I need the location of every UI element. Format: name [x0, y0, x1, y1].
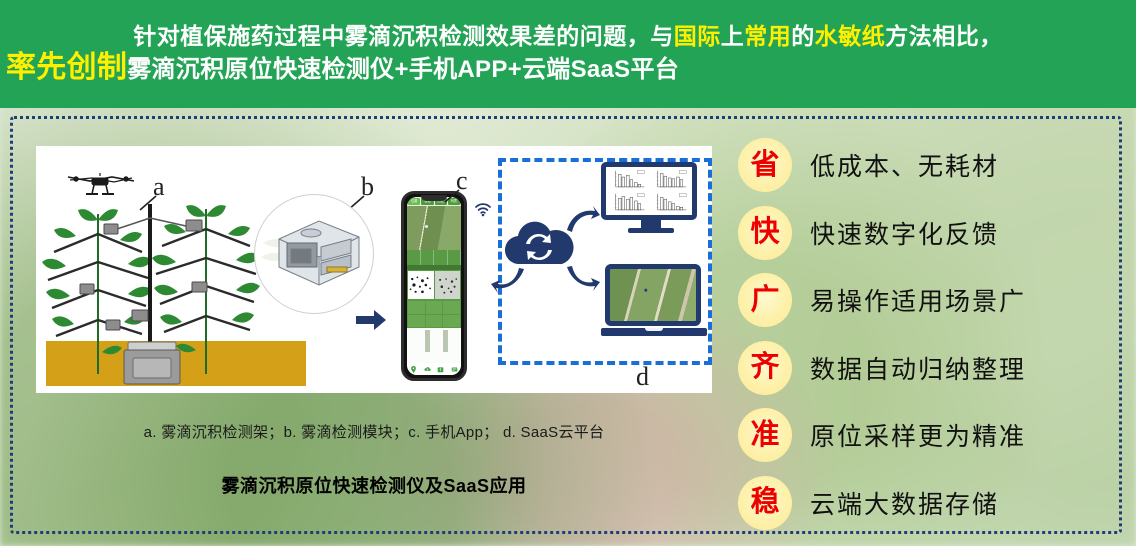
- illustration-panel: a b: [36, 146, 712, 393]
- laptop-device: [601, 264, 707, 350]
- detection-module-callout: [254, 194, 374, 314]
- monitor-base: [628, 228, 674, 233]
- feature-badge: 稳: [738, 476, 792, 530]
- feature-badge: 省: [738, 138, 792, 192]
- laptop-screen: [605, 264, 701, 326]
- slide-root: 针对植保施药过程中雾滴沉积检测效果差的问题，与国际上常用的水敏纸方法相比， 率先…: [0, 0, 1136, 546]
- feature-item: 准 原位采样更为精准: [738, 406, 1100, 464]
- feature-item: 快 快速数字化反馈: [738, 204, 1100, 262]
- app-result-list[interactable]: [407, 328, 461, 363]
- arrow-to-laptop: [566, 264, 600, 292]
- app-data-table: [407, 300, 461, 328]
- figure-title: 雾滴沉积原位快速检测仪及SaaS应用: [36, 472, 712, 498]
- laptop-base: [601, 328, 707, 336]
- app-field-map[interactable]: [407, 206, 461, 250]
- feature-text: 快速数字化反馈: [810, 215, 999, 251]
- upload-cloud-icon[interactable]: [424, 366, 431, 373]
- banner-lead-highlight: 率先创制: [6, 51, 127, 85]
- feature-badge: 齐: [738, 341, 792, 395]
- arrow-to-phone: [491, 266, 525, 294]
- app-table-row: [408, 301, 460, 314]
- app-droplet-images: [407, 270, 461, 300]
- feature-item: 省 低成本、无耗材: [738, 136, 1100, 194]
- feature-item: 稳 云端大数据存储: [738, 474, 1100, 532]
- feature-text: 原位采样更为精准: [810, 417, 1026, 453]
- feature-list: 省 低成本、无耗材 快 快速数字化反馈 广 易操作适用场景广 齐 数据自动归纳整…: [738, 136, 1100, 532]
- feature-text: 易操作适用场景广: [810, 282, 1026, 318]
- monitor-neck: [641, 220, 661, 228]
- title-banner: 针对植保施药过程中雾滴沉积检测效果差的问题，与国际上常用的水敏纸方法相比， 率先…: [0, 0, 1136, 108]
- mini-bar-chart: [608, 169, 649, 191]
- banner-line-2: 率先创制雾滴沉积原位快速检测仪+手机APP+云端SaaS平台: [0, 51, 1136, 87]
- mobile-phone-mockup[interactable]: 位置 表格 历史 列表: [401, 191, 467, 381]
- mini-bar-chart: [650, 192, 691, 214]
- app-map-marker: [425, 225, 428, 228]
- app-droplet-image-a: [408, 271, 434, 299]
- app-stats-row: [407, 250, 461, 265]
- label-d: d: [636, 364, 649, 390]
- app-droplet-image-b: [435, 271, 461, 299]
- app-table-row: [408, 315, 460, 328]
- app-tab-0[interactable]: 位置: [408, 198, 420, 205]
- message-icon[interactable]: [451, 366, 458, 373]
- feature-badge: 快: [738, 206, 792, 260]
- monitor-chart-grid: [608, 169, 690, 213]
- app-bottom-nav[interactable]: [407, 363, 461, 375]
- phone-screen: 位置 表格 历史 列表: [407, 197, 461, 375]
- feature-item: 齐 数据自动归纳整理: [738, 339, 1100, 397]
- mini-bar-chart: [650, 169, 691, 191]
- feature-badge: 广: [738, 273, 792, 327]
- feature-badge: 准: [738, 408, 792, 462]
- feature-text: 云端大数据存储: [810, 485, 999, 521]
- app-list-bar: [443, 330, 448, 352]
- laptop-field-image: [610, 269, 696, 321]
- arrow-to-monitor: [566, 206, 600, 234]
- label-a-leader: [136, 194, 158, 212]
- figure-legend: a. 雾滴沉积检测架；b. 雾滴检测模块；c. 手机App； d. SaaS云平…: [36, 421, 712, 442]
- wifi-icon: [474, 201, 492, 217]
- banner-seg-0: 针对植保施药过程中雾滴沉积检测效果差的问题，与: [133, 23, 674, 49]
- banner-seg-3-highlight: 常用: [744, 23, 791, 49]
- monitor-frame: [601, 162, 697, 220]
- feature-text: 低成本、无耗材: [810, 147, 999, 183]
- banner-seg-5-highlight: 水敏纸: [815, 23, 886, 49]
- banner-seg-1-highlight: 国际: [674, 23, 721, 49]
- detection-module-drawing: [255, 195, 373, 313]
- location-pin-icon[interactable]: [410, 366, 417, 373]
- banner-seg-2: 上: [721, 23, 745, 49]
- feature-text: 数据自动归纳整理: [810, 350, 1026, 386]
- banner-seg-6: 方法相比，: [885, 23, 1003, 49]
- phone-notch: [421, 195, 447, 201]
- desktop-monitor: [601, 162, 701, 242]
- feature-item: 广 易操作适用场景广: [738, 271, 1100, 329]
- banner-line2-rest: 雾滴沉积原位快速检测仪+手机APP+云端SaaS平台: [127, 53, 679, 87]
- flow-arrow-right: [356, 309, 386, 331]
- export-icon[interactable]: [437, 366, 444, 373]
- banner-seg-4: 的: [791, 23, 815, 49]
- app-list-bar: [425, 330, 430, 352]
- mini-bar-chart: [608, 192, 649, 214]
- banner-line-1: 针对植保施药过程中雾滴沉积检测效果差的问题，与国际上常用的水敏纸方法相比，: [0, 21, 1136, 51]
